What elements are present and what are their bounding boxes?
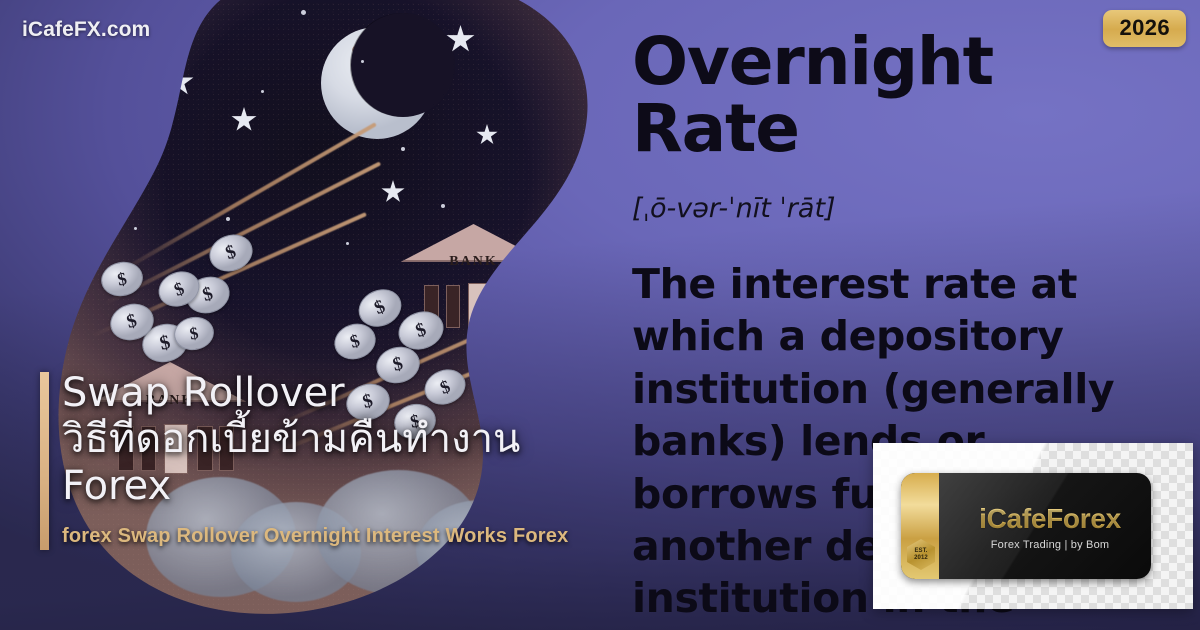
brand-tagline: Forex Trading | by Bom — [961, 539, 1139, 551]
seal-year-label: 2012 — [914, 555, 928, 561]
definition-term: Overnight Rate — [632, 28, 1172, 163]
headline-line-en-top: Swap Rollover — [62, 370, 345, 416]
headline-line-th: วิธีที่ดอกเบี้ยข้ามคืนทำงาน — [62, 416, 650, 462]
brand-name: iCafeForex — [961, 503, 1139, 535]
site-watermark: iCafeFX.com — [22, 18, 150, 42]
star-dot — [134, 227, 137, 230]
page-subtitle: forex Swap Rollover Overnight Interest W… — [62, 525, 650, 548]
crescent-moon-icon — [321, 27, 433, 139]
headline-block: Swap Rollover วิธีที่ดอกเบี้ยข้ามคืนทำงา… — [40, 370, 650, 548]
accent-bar — [40, 372, 49, 550]
headline-line-en-bottom: Forex — [62, 463, 171, 509]
logo-plate: EST. 2012 iCafeForex Forex Trading | by … — [901, 473, 1151, 579]
brand-logo-card: EST. 2012 iCafeForex Forex Trading | by … — [873, 443, 1193, 609]
star-dot — [361, 60, 364, 63]
star-dot — [401, 147, 405, 151]
moon-shadow — [351, 13, 455, 117]
star-dot — [226, 217, 230, 221]
star-dot — [346, 242, 349, 245]
definition-phonetic: [ˌō-vər-ˈnīt ˈrāt] — [632, 193, 1172, 224]
page-title: Swap Rollover วิธีที่ดอกเบี้ยข้ามคืนทำงา… — [62, 370, 650, 509]
bank-window — [446, 285, 461, 327]
star-dot — [301, 10, 306, 15]
star-dot — [441, 204, 445, 208]
star-dot — [261, 90, 264, 93]
